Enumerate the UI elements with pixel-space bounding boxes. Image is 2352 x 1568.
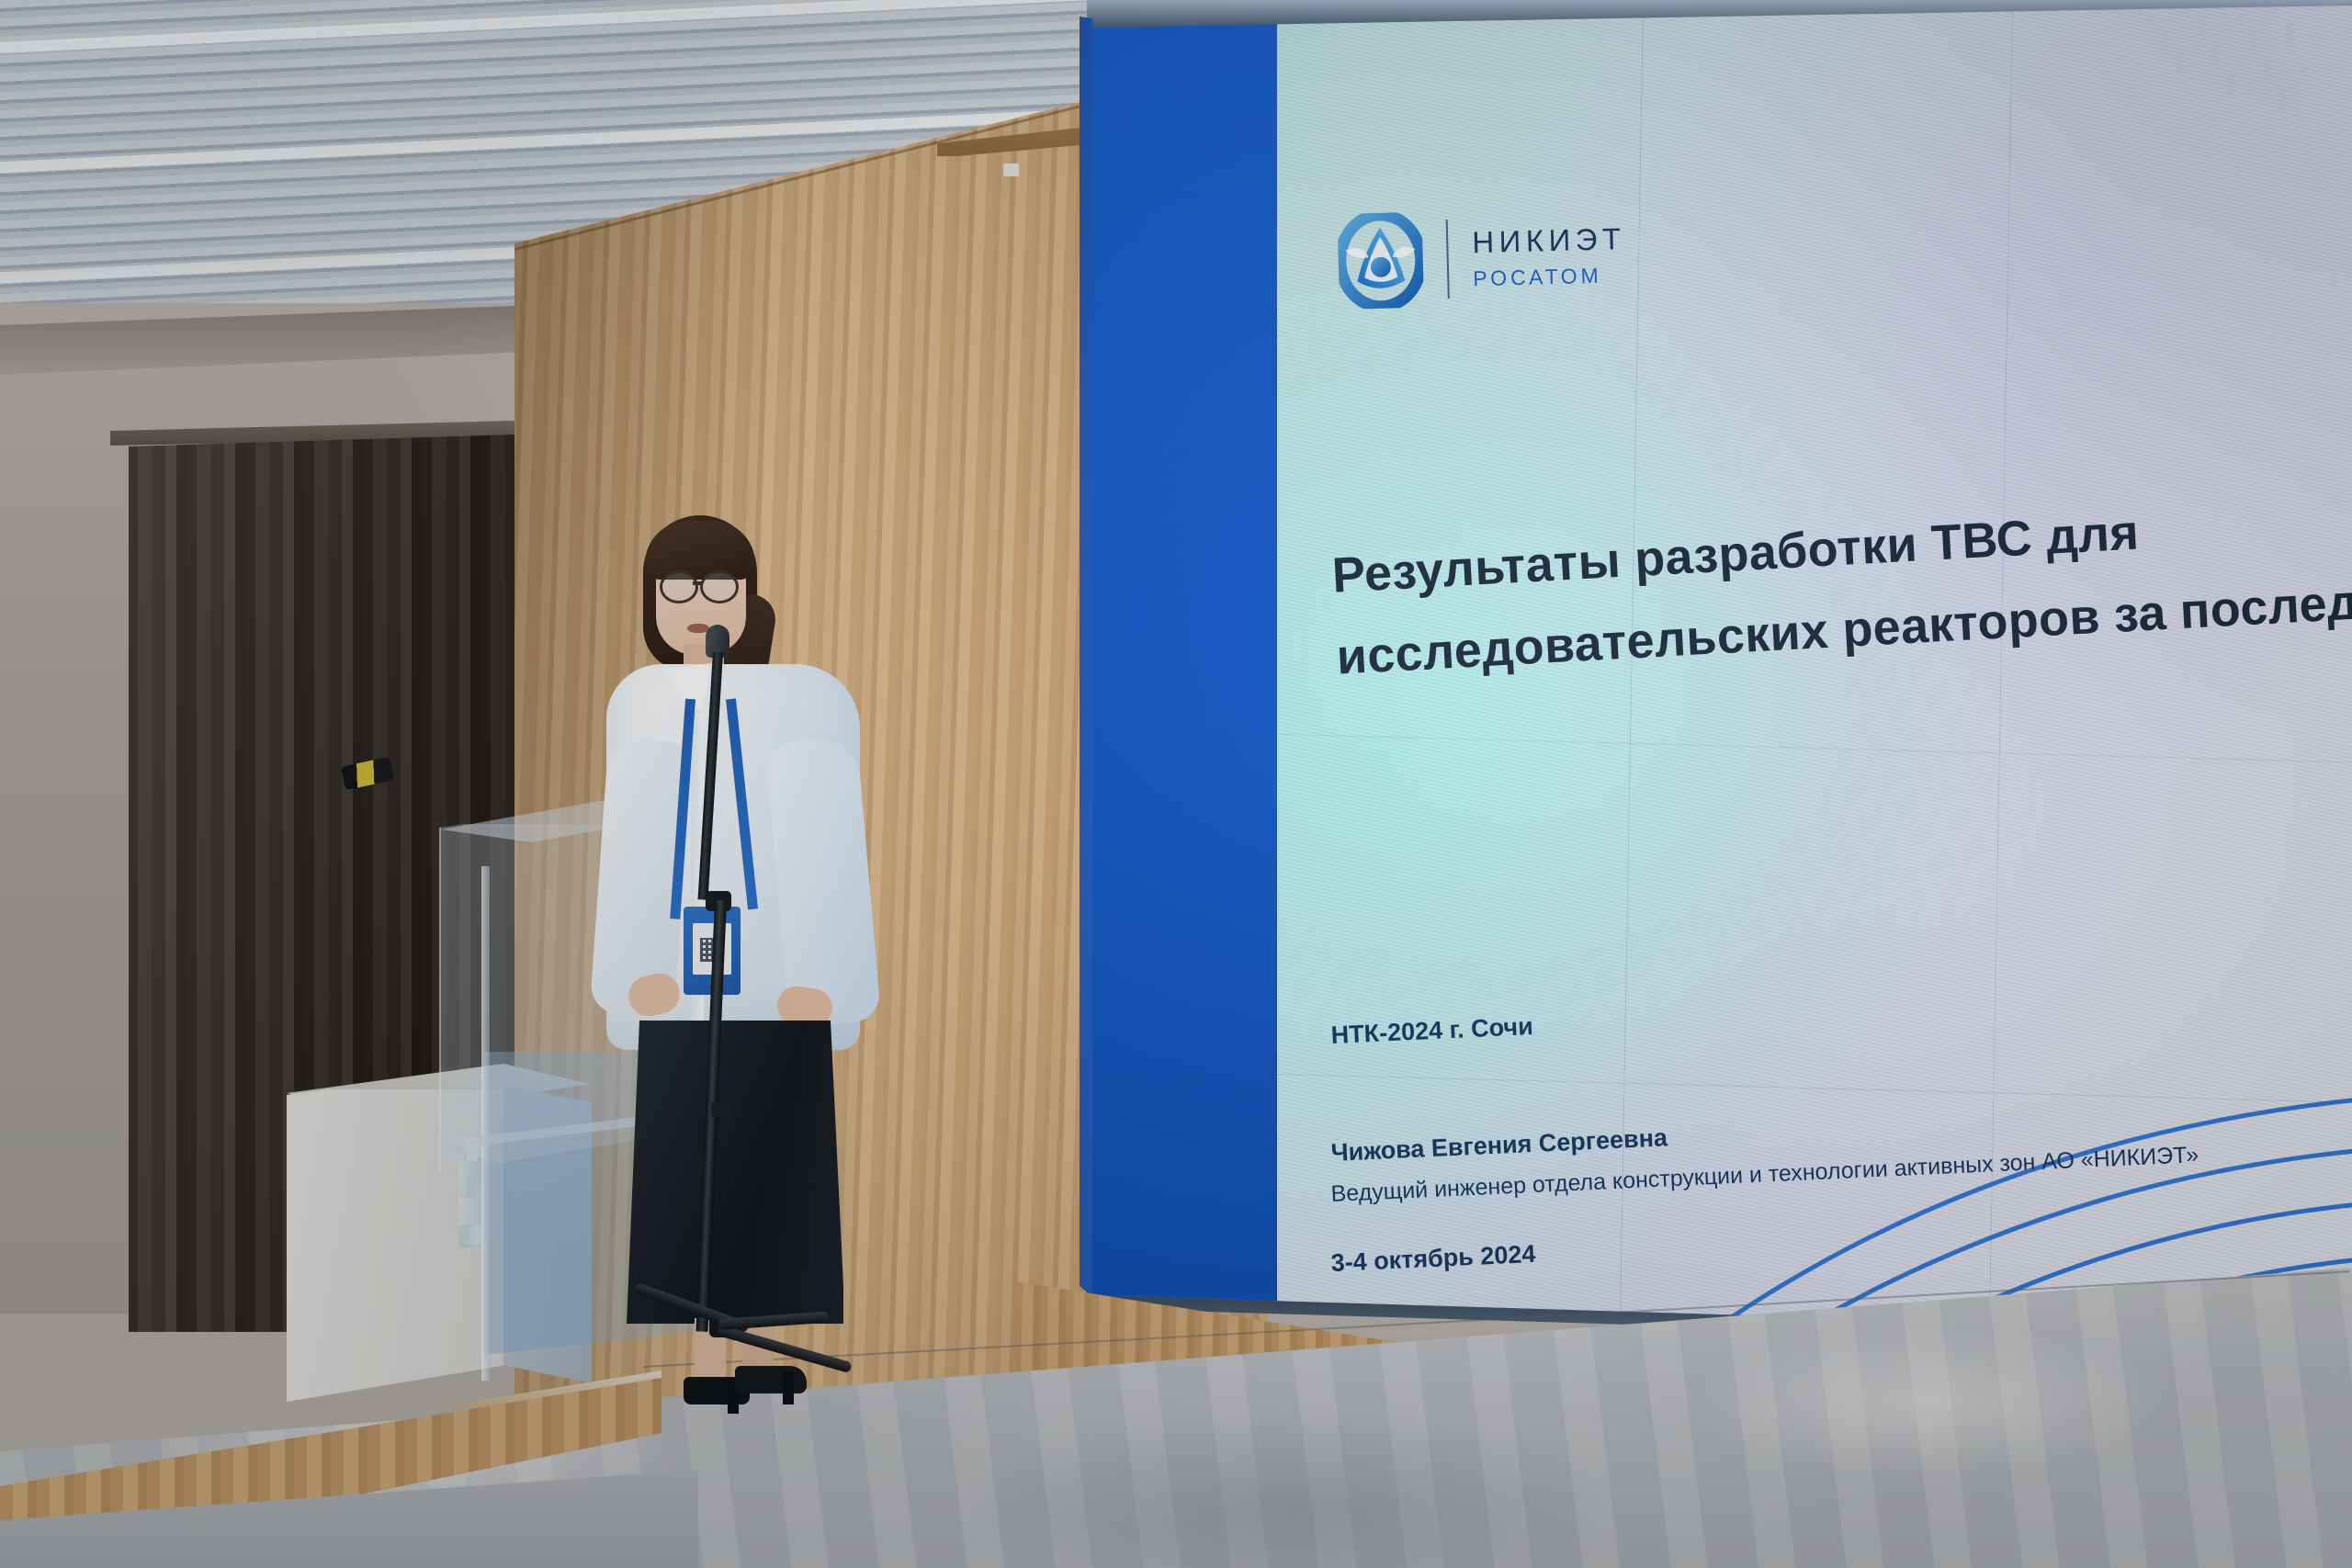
microphone-boom [698, 652, 723, 900]
tripod-leg-2 [717, 1325, 852, 1373]
microphone-stand [634, 625, 910, 1424]
wall-sensor-icon [1003, 164, 1019, 176]
microphone-collar [711, 1102, 731, 1117]
rosatom-atom-icon [1337, 212, 1424, 310]
conference-photo-scene: НИКИЭТ РОСАТОМ Результаты разработки ТВС… [0, 0, 2352, 1568]
logo-rosatom-label: РОСАТОМ [1473, 265, 1627, 289]
lectern-left-leg [481, 866, 490, 1381]
eyeglasses-right-lens [700, 570, 739, 604]
tripod-leg-3 [718, 1312, 830, 1330]
eyeglasses-bridge [693, 581, 702, 585]
hair-front [645, 521, 755, 580]
slide-logo-block: НИКИЭТ РОСАТОМ [1337, 186, 1762, 326]
logo-divider [1446, 220, 1450, 299]
eyeglasses-left-lens [660, 570, 698, 604]
logo-nikiet-label: НИКИЭТ [1472, 223, 1626, 257]
